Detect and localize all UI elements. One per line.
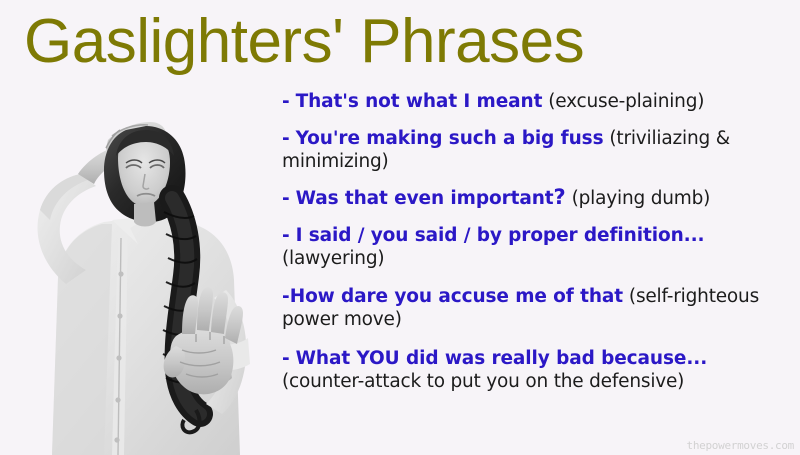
list-item: - That's not what I meant (excuse-plaini… <box>282 90 794 113</box>
list-item: - You're making such a big fuss (trivili… <box>282 127 794 173</box>
phrase-quote: That's not what I meant <box>296 91 543 112</box>
bullet-dash: - <box>282 286 290 307</box>
bullet-dash: - <box>282 188 290 209</box>
phrase-quote: I said / you said / by proper definition… <box>296 225 705 246</box>
infographic-canvas: Gaslighters' Phrases <box>0 0 800 455</box>
phrase-quote: You're making such a big fuss <box>296 128 604 149</box>
watermark: thepowermoves.com <box>687 439 794 452</box>
bullet-dash: - <box>282 91 290 112</box>
bullet-dash: - <box>282 128 290 149</box>
phrase-gloss: (playing dumb) <box>572 188 711 209</box>
phrase-question-mark: ? <box>554 185 566 209</box>
woman-photo <box>0 78 268 455</box>
list-item: - What YOU did was really bad because...… <box>282 347 794 393</box>
bullet-dash: - <box>282 348 290 369</box>
phrase-gloss: (excuse-plaining) <box>548 91 704 112</box>
page-title: Gaslighters' Phrases <box>24 6 794 78</box>
list-item: - Was that even important? (playing dumb… <box>282 186 794 210</box>
phrase-gloss: (lawyering) <box>282 248 384 269</box>
phrase-gloss: (counter-attack to put you on the defens… <box>282 371 684 392</box>
woman-photo-illustration <box>0 78 268 455</box>
list-item: - I said / you said / by proper definiti… <box>282 224 794 270</box>
bullet-dash: - <box>282 225 290 246</box>
phrase-quote: How dare you accuse me of that <box>290 286 623 307</box>
phrase-list: - That's not what I meant (excuse-plaini… <box>282 90 794 393</box>
list-item: -How dare you accuse me of that (self-ri… <box>282 285 794 331</box>
phrase-quote: Was that even important <box>296 188 554 209</box>
phrase-quote: What YOU did was really bad because... <box>296 348 708 369</box>
